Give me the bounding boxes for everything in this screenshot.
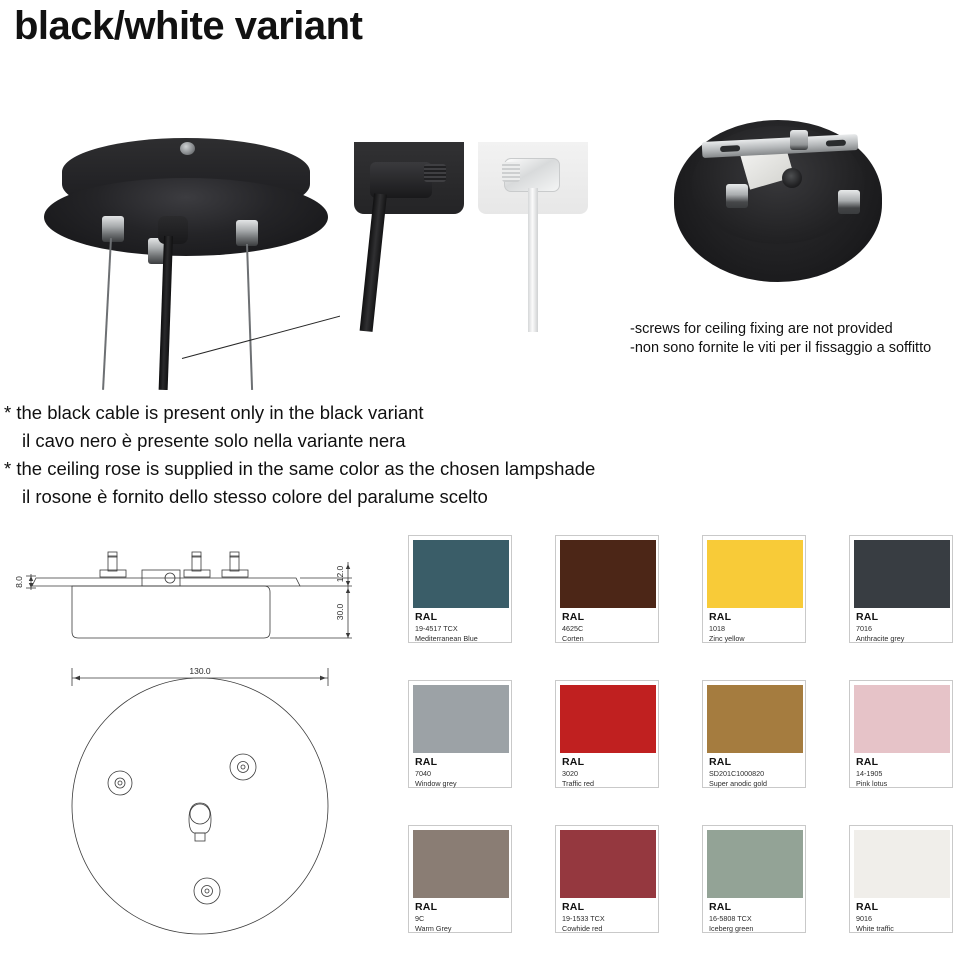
swatch-color-block (413, 685, 509, 753)
swatch-code: 3020 (562, 769, 652, 779)
plan-cable-outlet (189, 803, 211, 841)
photo-cable-gland-transparent (478, 142, 596, 332)
swatch-code: 14-1905 (856, 769, 946, 779)
interior-nut-bottom-left-shape (726, 184, 748, 208)
swatch-card[interactable]: RAL1018Zinc yellow (702, 535, 806, 643)
swatch-name: Pink lotus (856, 779, 946, 789)
swatch-meta: RAL4625CCorten (560, 608, 654, 644)
side-screw-post-mid (184, 552, 210, 577)
swatch-color-block (854, 540, 950, 608)
swatch-code: 9016 (856, 914, 946, 924)
swatch-color-block (413, 830, 509, 898)
swatch-meta: RALSD201C1000820Super anodic gold (707, 753, 801, 789)
swatch-color-block (560, 685, 656, 753)
swatch-meta: RAL19-1533 TCXCowhide red (560, 898, 654, 934)
swatch-card[interactable]: RAL3020Traffic red (555, 680, 659, 788)
swatch-card[interactable]: RALSD201C1000820Super anodic gold (702, 680, 806, 788)
side-plate-outline (32, 578, 300, 586)
gland-thread-transparent-shape (502, 162, 520, 182)
note-cable-line-it: il cavo nero è presente solo nella varia… (4, 427, 744, 455)
swatch-meta: RAL3020Traffic red (560, 753, 654, 789)
swatch-code: 19-1533 TCX (562, 914, 652, 924)
swatch-name: Super anodic gold (709, 779, 799, 789)
technical-drawing: 8.0 12.0 30.0 130.0 (0, 520, 400, 968)
swatch-code: 9C (415, 914, 505, 924)
interior-nut-top-shape (790, 130, 808, 150)
swatch-name: Traffic red (562, 779, 652, 789)
swatch-name: Iceberg green (709, 924, 799, 934)
note-screws-not-provided: -screws for ceiling fixing are not provi… (630, 320, 976, 359)
swatch-meta: RAL19-4517 TCXMediterranean Blue (413, 608, 507, 644)
rose-suspension-wire-right-shape (246, 244, 253, 390)
swatch-ral-label: RAL (709, 611, 799, 623)
swatch-meta: RAL7040Window grey (413, 753, 507, 789)
note-rose-color-line-it: il rosone è fornito dello stesso colore … (4, 483, 744, 511)
swatch-color-block (854, 830, 950, 898)
plan-screw-hole-left (108, 771, 132, 795)
swatch-name: Window grey (415, 779, 505, 789)
dimension-label-8-0: 8.0 (14, 576, 24, 588)
gland-thread-black-shape (424, 164, 446, 182)
swatch-meta: RAL1018Zinc yellow (707, 608, 801, 644)
swatch-ral-label: RAL (856, 901, 946, 913)
bracket-slot-right-shape (826, 140, 846, 147)
swatch-card[interactable]: RAL14-1905Pink lotus (849, 680, 953, 788)
side-screw-post-right (222, 552, 248, 577)
swatch-color-block (560, 830, 656, 898)
swatch-ral-label: RAL (415, 756, 505, 768)
swatch-card[interactable]: RAL9CWarm Grey (408, 825, 512, 933)
swatch-color-block (413, 540, 509, 608)
swatch-ral-label: RAL (709, 756, 799, 768)
photo-cable-gland-black (354, 142, 472, 332)
note-screws-line-it: -non sono fornite le viti per il fissagg… (630, 339, 976, 358)
swatch-name: Mediterranean Blue (415, 634, 505, 644)
note-screws-line-en: -screws for ceiling fixing are not provi… (630, 320, 976, 339)
swatch-code: SD201C1000820 (709, 769, 799, 779)
rose-cable-nut-right-shape (236, 220, 258, 246)
swatch-card[interactable]: RAL19-4517 TCXMediterranean Blue (408, 535, 512, 643)
swatch-color-block (707, 540, 803, 608)
swatch-meta: RAL16-5808 TCXIceberg green (707, 898, 801, 934)
plan-screw-hole-bottom (194, 878, 220, 904)
swatch-color-block (707, 830, 803, 898)
swatch-card[interactable]: RAL16-5808 TCXIceberg green (702, 825, 806, 933)
note-rose-color-line-en: * the ceiling rose is supplied in the sa… (4, 455, 744, 483)
swatch-color-block (560, 540, 656, 608)
note-variant-info: * the black cable is present only in the… (4, 399, 744, 511)
swatch-ral-label: RAL (709, 901, 799, 913)
rose-cable-nut-left-shape (102, 216, 124, 242)
side-screw-post-left (100, 552, 126, 577)
rose-top-screw-shape (180, 142, 195, 155)
swatch-meta: RAL7016Anthracite grey (854, 608, 948, 644)
swatch-card[interactable]: RAL4625CCorten (555, 535, 659, 643)
swatch-code: 7040 (415, 769, 505, 779)
swatch-meta: RAL9CWarm Grey (413, 898, 507, 934)
swatch-card[interactable]: RAL7016Anthracite grey (849, 535, 953, 643)
dimension-30-0 (346, 586, 350, 638)
dimension-12-0 (346, 562, 350, 586)
swatch-ral-label: RAL (562, 756, 652, 768)
rose-cable-gland-shape (158, 216, 188, 244)
swatch-ral-label: RAL (856, 756, 946, 768)
swatch-ral-label: RAL (415, 611, 505, 623)
plan-outer-circle (72, 678, 328, 934)
swatch-ral-label: RAL (856, 611, 946, 623)
rose-base-disc-shape (44, 178, 328, 256)
swatch-code: 7016 (856, 624, 946, 634)
swatch-code: 19-4517 TCX (415, 624, 505, 634)
photo-ceiling-rose-interior (666, 116, 896, 286)
gland-cable-transparent-shape (528, 188, 538, 332)
dimension-label-130-0: 130.0 (189, 666, 211, 676)
swatch-meta: RAL9016White traffic (854, 898, 948, 934)
swatch-name: Zinc yellow (709, 634, 799, 644)
swatch-color-block (854, 685, 950, 753)
side-body-outline (72, 586, 270, 638)
note-cable-line-en: * the black cable is present only in the… (4, 399, 744, 427)
color-swatch-grid: RAL19-4517 TCXMediterranean BlueRAL4625C… (408, 535, 953, 933)
swatch-name: Cowhide red (562, 924, 652, 934)
swatch-ral-label: RAL (415, 901, 505, 913)
gland-body-black-shape (370, 162, 432, 198)
rose-suspension-wire-left-shape (102, 238, 112, 390)
annotation-leader-line (182, 301, 340, 359)
swatch-name: Warm Grey (415, 924, 505, 934)
swatch-ral-label: RAL (562, 611, 652, 623)
photo-ceiling-rose-black (40, 120, 340, 390)
technical-drawing-svg: 8.0 12.0 30.0 130.0 (0, 520, 400, 968)
swatch-code: 1018 (709, 624, 799, 634)
swatch-card[interactable]: RAL9016White traffic (849, 825, 953, 933)
swatch-card[interactable]: RAL7040Window grey (408, 680, 512, 788)
dimension-label-30-0: 30.0 (335, 603, 345, 620)
page-title: black/white variant (14, 2, 362, 50)
swatch-name: White traffic (856, 924, 946, 934)
swatch-ral-label: RAL (562, 901, 652, 913)
dimension-label-12-0: 12.0 (335, 565, 345, 582)
interior-center-hole-shape (782, 168, 802, 188)
swatch-code: 4625C (562, 624, 652, 634)
bracket-slot-left-shape (720, 145, 740, 152)
swatch-name: Corten (562, 634, 652, 644)
swatch-color-block (707, 685, 803, 753)
swatch-card[interactable]: RAL19-1533 TCXCowhide red (555, 825, 659, 933)
interior-nut-bottom-right-shape (838, 190, 860, 214)
gland-cable-black-shape (360, 193, 387, 332)
plan-screw-hole-upper-right (230, 754, 256, 780)
swatch-code: 16-5808 TCX (709, 914, 799, 924)
dimension-8-0 (26, 574, 36, 590)
swatch-meta: RAL14-1905Pink lotus (854, 753, 948, 789)
swatch-name: Anthracite grey (856, 634, 946, 644)
